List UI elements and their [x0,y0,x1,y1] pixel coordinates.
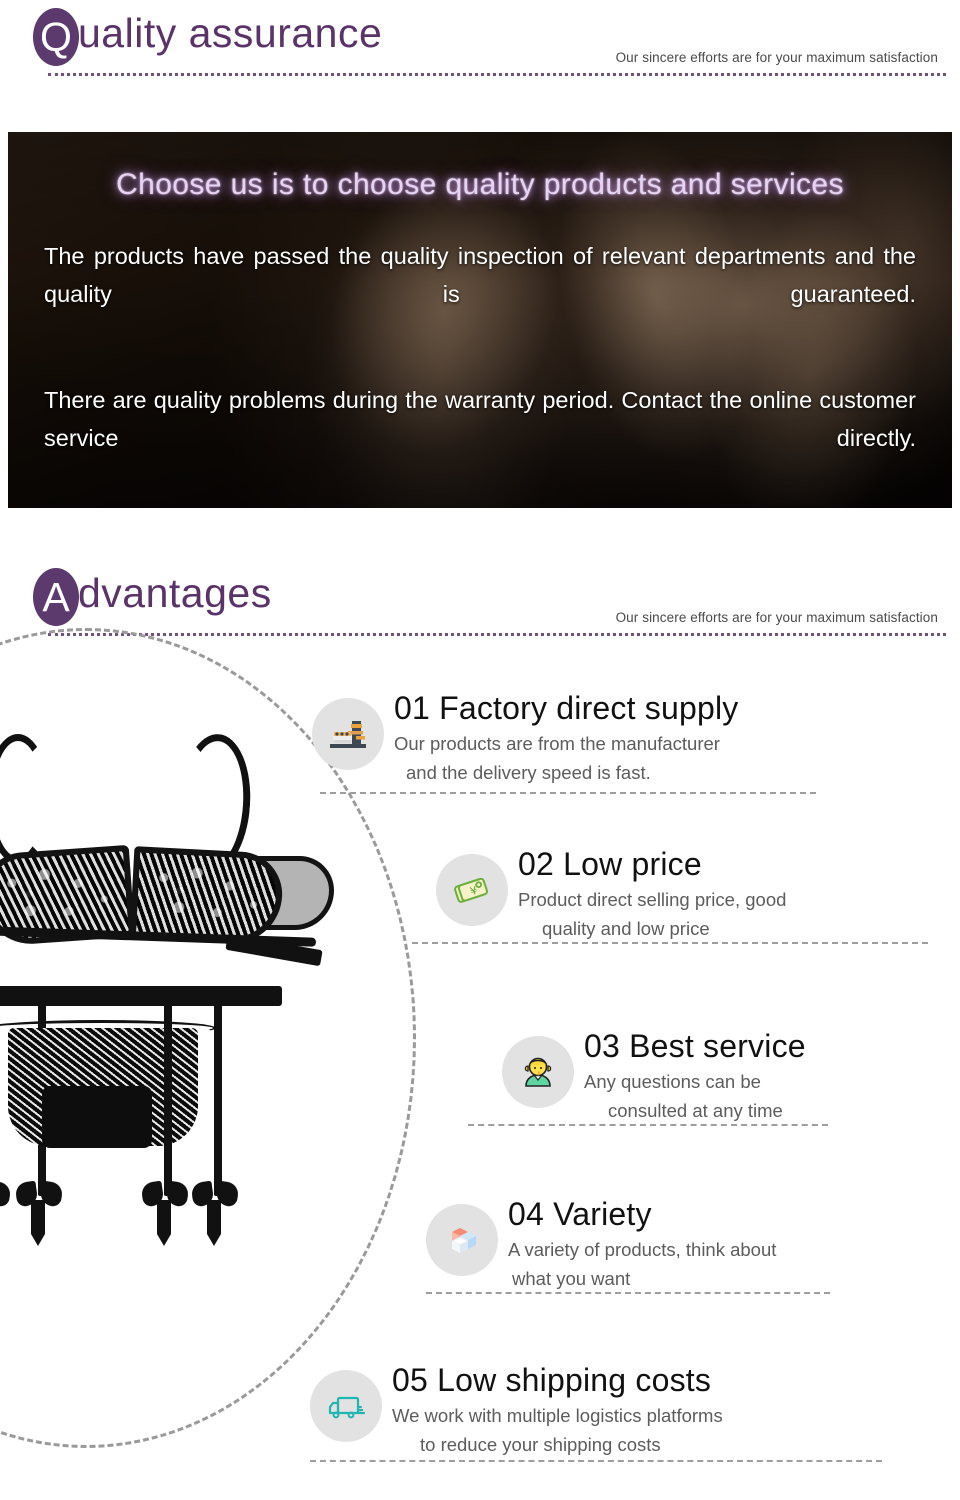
advantage-divider [426,1292,830,1294]
boxes-icon [426,1204,498,1276]
bra-cup-right [130,846,285,946]
advantage-title: 05 Low shipping costs [392,1362,723,1400]
advantage-desc-line-2: and the delivery speed is fast. [406,759,739,786]
advantage-title: 03 Best service [584,1028,806,1066]
garter-bow [192,1182,238,1208]
garter-bow [16,1182,62,1208]
advantage-divider [320,792,816,794]
quality-assurance-header: Q uality assurance Our sincere efforts a… [0,0,960,92]
advantage-desc-line-1: Product direct selling price, good [518,886,786,913]
advantage-text-05: 05 Low shipping costs We work with multi… [392,1362,723,1458]
advantage-text-04: 04 Variety A variety of products, think … [508,1196,776,1292]
advantage-desc-line-2: quality and low price [542,915,786,942]
customer-service-icon [502,1036,574,1108]
advantages-section: 01 Factory direct supply Our products ar… [0,560,960,1500]
quality-banner: Choose us is to choose quality products … [8,132,952,508]
product-garter-image [0,986,312,1248]
advantage-title: 02 Low price [518,846,786,884]
advantage-divider [468,1124,828,1126]
advantage-text-01: 01 Factory direct supply Our products ar… [394,690,739,786]
advantage-title: 01 Factory direct supply [394,690,739,728]
page-title: uality assurance [78,10,382,57]
garter-strap [164,1000,172,1196]
banner-body: The products have passed the quality ins… [44,237,916,495]
advantage-desc-line-1: We work with multiple logistics platform… [392,1402,723,1429]
advantage-divider [310,1460,882,1462]
header-dotted-divider [48,73,946,76]
banner-paragraph-2: There are quality problems during the wa… [44,381,916,495]
advantage-desc-line-2: consulted at any time [608,1097,806,1124]
advantage-desc-line-2: what you want [512,1265,776,1292]
advantage-desc-line-2: to reduce your shipping costs [420,1431,723,1458]
quality-badge-icon: Q [33,8,79,66]
garter-bow [0,1182,10,1208]
advantage-title: 04 Variety [508,1196,776,1234]
advantage-desc-line-1: Any questions can be [584,1068,806,1095]
product-detail-page: Q uality assurance Our sincere efforts a… [0,0,960,1500]
delivery-truck-icon [310,1370,382,1442]
advantage-divider [412,942,928,944]
advantage-desc-line-1: Our products are from the manufacturer [394,730,739,757]
advantage-text-02: 02 Low price Product direct selling pric… [518,846,786,942]
price-tag-icon: ¥ [436,854,508,926]
lace-pattern [136,852,278,939]
product-bra-image [0,728,330,958]
advantage-text-03: 03 Best service Any questions can be con… [584,1028,806,1124]
bra-strap-left [0,734,50,864]
advantage-desc-line-1: A variety of products, think about [508,1236,776,1263]
garter-strap [214,1000,222,1196]
product-photo [0,728,340,1248]
factory-icon [312,698,384,770]
banner-paragraph-1: The products have passed the quality ins… [44,237,916,351]
garter-bow [142,1182,188,1208]
header-tagline: Our sincere efforts are for your maximum… [616,50,938,65]
banner-headline: Choose us is to choose quality products … [110,164,850,207]
